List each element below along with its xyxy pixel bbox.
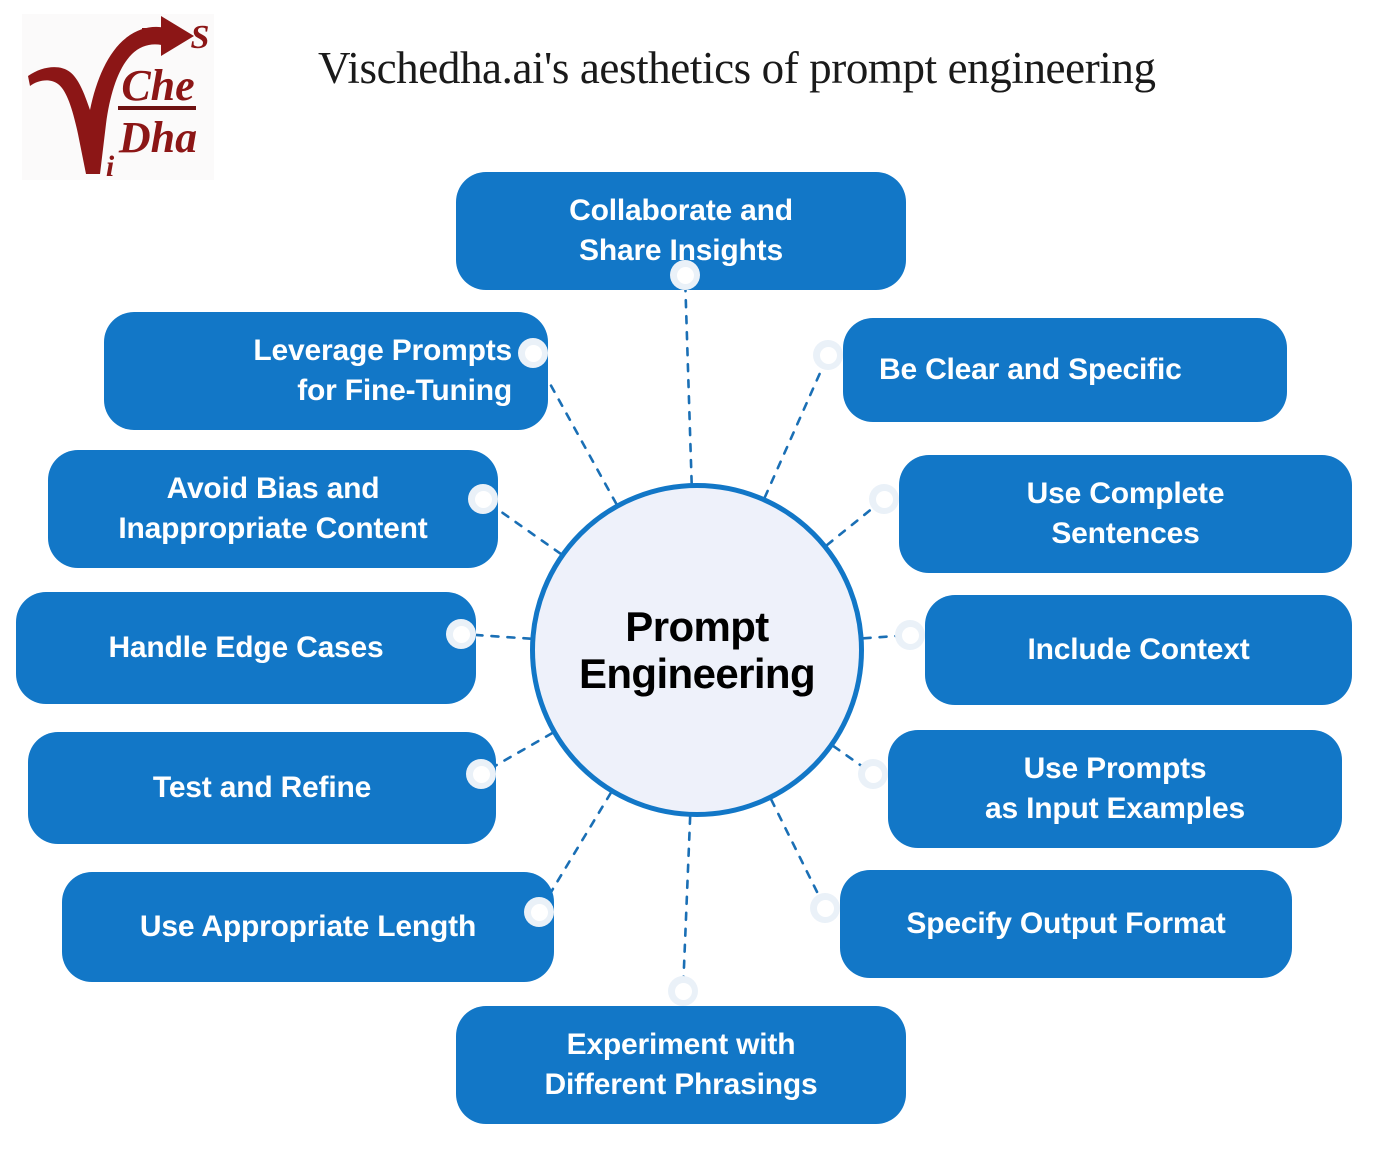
connector-knob-icon: [670, 260, 700, 290]
node-use-complete-sentences[interactable]: Use CompleteSentences: [899, 455, 1352, 573]
connector-line: [685, 275, 692, 483]
node-line1: Experiment with: [567, 1028, 796, 1061]
center-node-prompt-engineering[interactable]: Prompt Engineering: [530, 483, 864, 817]
node-be-clear-and-specific[interactable]: Be Clear and Specific: [843, 318, 1287, 422]
connector-line: [765, 355, 828, 497]
node-line2: for Fine-Tuning: [297, 374, 512, 407]
node-line1: Use Appropriate Length: [140, 910, 476, 943]
connector-knob-icon: [858, 759, 888, 789]
node-leverage-prompts-for-fine-tuning[interactable]: Leverage Promptsfor Fine-Tuning: [104, 312, 548, 430]
node-label: Use CompleteSentences: [899, 474, 1352, 554]
node-line1: Be Clear and Specific: [879, 353, 1182, 386]
node-line2: Inappropriate Content: [118, 512, 427, 545]
node-line2: Sentences: [1051, 517, 1199, 550]
connector-knob-icon: [466, 759, 496, 789]
connector-knob-icon: [446, 619, 476, 649]
node-line1: Test and Refine: [153, 771, 371, 804]
node-handle-edge-cases[interactable]: Handle Edge Cases: [16, 592, 476, 704]
node-label: Use Promptsas Input Examples: [888, 749, 1342, 829]
connector-knob-icon: [895, 620, 925, 650]
node-avoid-bias-and-inappropriate-content[interactable]: Avoid Bias andInappropriate Content: [48, 450, 498, 568]
node-label: Test and Refine: [28, 768, 496, 808]
node-label: Handle Edge Cases: [16, 628, 476, 668]
node-line1: Use Complete: [1027, 477, 1225, 510]
node-experiment-with-different-phrasings[interactable]: Experiment withDifferent Phrasings: [456, 1006, 906, 1124]
node-line1: Avoid Bias and: [167, 472, 380, 505]
node-line1: Specify Output Format: [906, 907, 1225, 940]
node-label: Leverage Promptsfor Fine-Tuning: [104, 331, 548, 411]
node-label: Be Clear and Specific: [843, 350, 1287, 390]
node-line1: Collaborate and: [569, 194, 793, 227]
center-node-label: Prompt Engineering: [579, 603, 815, 697]
node-use-prompts-as-input-examples[interactable]: Use Promptsas Input Examples: [888, 730, 1342, 848]
node-line2: as Input Examples: [985, 792, 1245, 825]
connector-knob-icon: [869, 484, 899, 514]
node-label: Avoid Bias andInappropriate Content: [48, 469, 498, 549]
connector-knob-icon: [468, 484, 498, 514]
node-label: Experiment withDifferent Phrasings: [456, 1025, 906, 1105]
node-label: Use Appropriate Length: [62, 907, 554, 947]
node-line1: Include Context: [1027, 633, 1249, 666]
connector-line: [683, 817, 690, 991]
connector-knob-icon: [524, 897, 554, 927]
connector-knob-icon: [518, 338, 548, 368]
node-test-and-refine[interactable]: Test and Refine: [28, 732, 496, 844]
node-specify-output-format[interactable]: Specify Output Format: [840, 870, 1292, 978]
node-line2: Different Phrasings: [545, 1068, 818, 1101]
connector-knob-icon: [668, 976, 698, 1006]
prompt-engineering-mindmap: Prompt Engineering Collaborate andShare …: [0, 0, 1390, 1165]
node-line1: Leverage Prompts: [253, 334, 512, 367]
connector-line: [771, 800, 825, 908]
node-line1: Handle Edge Cases: [108, 631, 383, 664]
node-label: Include Context: [925, 630, 1352, 670]
connector-knob-icon: [810, 893, 840, 923]
node-label: Specify Output Format: [840, 904, 1292, 944]
center-node-line1: Prompt: [625, 603, 768, 650]
node-use-appropriate-length[interactable]: Use Appropriate Length: [62, 872, 554, 982]
center-node-line2: Engineering: [579, 650, 815, 697]
node-label: Collaborate andShare Insights: [456, 191, 906, 271]
connector-knob-icon: [813, 340, 843, 370]
node-line1: Use Prompts: [1024, 752, 1207, 785]
node-include-context[interactable]: Include Context: [925, 595, 1352, 705]
